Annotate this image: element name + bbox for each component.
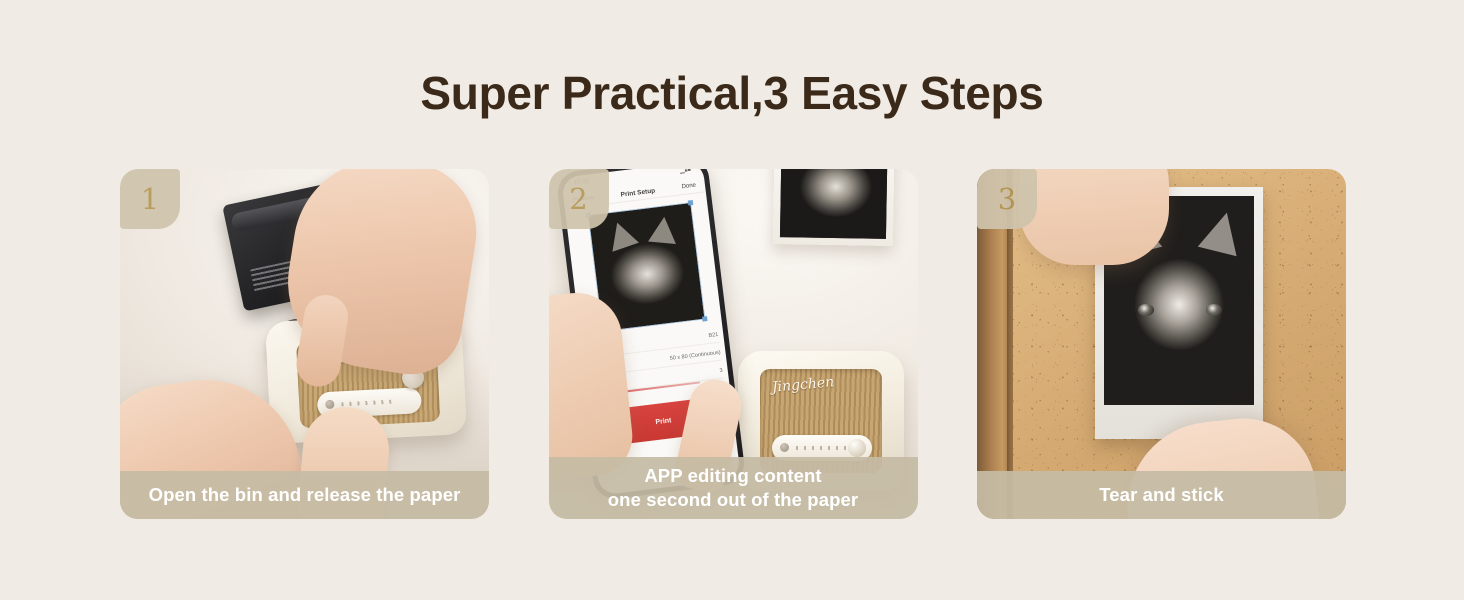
nav-done-button[interactable]: Done (681, 182, 696, 190)
step-3-caption: Tear and stick (977, 471, 1346, 519)
power-button-icon (848, 439, 866, 457)
promo-banner: Super Practical,3 Easy Steps Jingchen (0, 0, 1464, 600)
step-1-caption: Open the bin and release the paper (120, 471, 489, 519)
status-led-icon (780, 443, 789, 452)
vent-ticks (341, 400, 391, 407)
setting-value: 50 x 80 (Continuous) (669, 350, 720, 362)
cat-ear-left (603, 218, 638, 252)
resize-handle-br[interactable] (702, 316, 708, 322)
step-card-1: Jingchen 1 Open the bin and relea (120, 169, 489, 519)
resize-handle-tr[interactable] (687, 200, 693, 206)
status-icons: ▁▴■ (679, 169, 691, 174)
nav-title: Print Setup (620, 187, 655, 198)
step-3-number-badge: 3 (977, 169, 1037, 229)
step-3-photo (977, 169, 1346, 519)
step-1-caption-line-1: Open the bin and release the paper (149, 483, 461, 507)
setting-value: B21 (708, 332, 718, 339)
step-2-caption-line-1: APP editing content (644, 464, 821, 488)
step-1-number-badge: 1 (120, 169, 180, 229)
step-3-caption-line-1: Tear and stick (1099, 483, 1223, 507)
setting-value: 3 (719, 368, 723, 374)
step-2-caption-line-2: one second out of the paper (608, 488, 858, 512)
cat-eye-left (1138, 304, 1154, 316)
printed-label (772, 169, 894, 246)
steps-row: Jingchen 1 Open the bin and relea (120, 169, 1346, 519)
cat-ear-right (648, 216, 678, 244)
step-card-2: Jingchen 17:28 ▁▴■ (549, 169, 918, 519)
printed-cat-image (779, 169, 887, 239)
step-card-3: 3 Tear and stick (977, 169, 1346, 519)
step-1-photo: Jingchen (120, 169, 489, 519)
step-2-caption: APP editing content one second out of th… (549, 457, 918, 519)
page-title: Super Practical,3 Easy Steps (0, 68, 1464, 119)
step-2-number-badge: 2 (549, 169, 609, 229)
brand-logo: Jingchen (771, 374, 834, 395)
cat-eye-right (1206, 304, 1222, 316)
hand-upper (1019, 169, 1169, 265)
vent-ticks (796, 446, 846, 450)
cat-ear-right (1198, 208, 1246, 256)
